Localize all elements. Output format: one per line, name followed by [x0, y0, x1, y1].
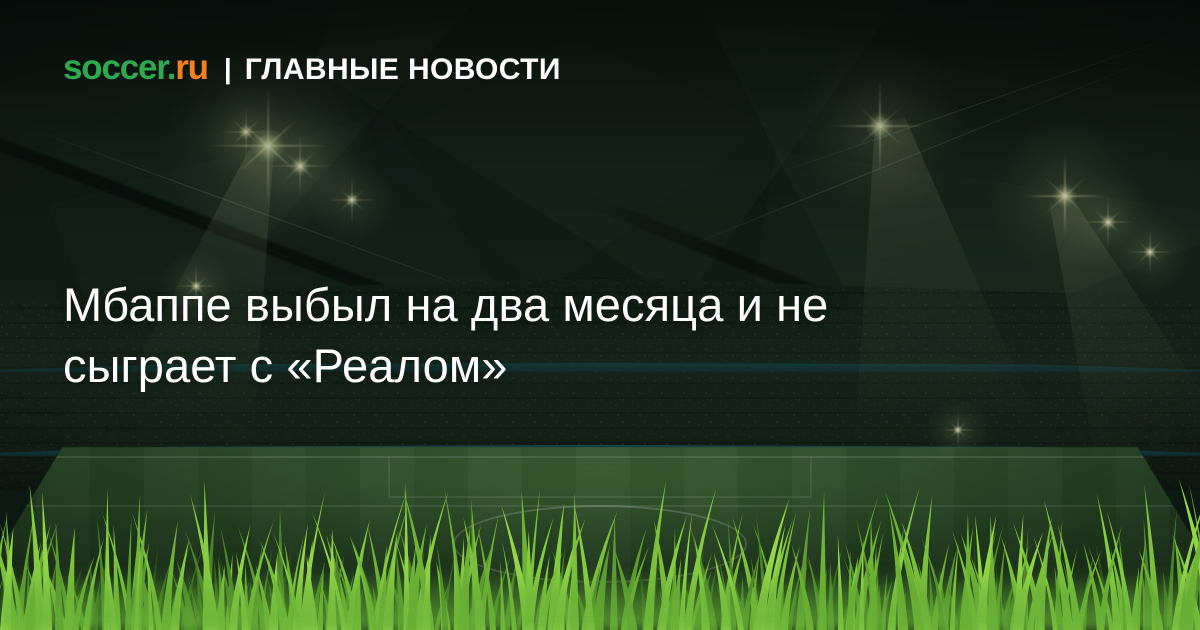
logo-text-soccer: soccer	[63, 48, 167, 87]
logo-text-dot: .	[167, 48, 176, 87]
page-title: Мбаппе выбыл на два месяца и не сыграет …	[63, 274, 1093, 396]
headline-line-2: сыграет с «Реалом»	[63, 335, 1093, 396]
site-logo[interactable]: soccer.ru	[63, 50, 208, 85]
card-content: soccer.ru | ГЛАВНЫЕ НОВОСТИ Мбаппе выбыл…	[0, 0, 1200, 630]
section-kicker: ГЛАВНЫЕ НОВОСТИ	[245, 55, 561, 85]
headline-line-1: Мбаппе выбыл на два месяца и не	[63, 274, 1093, 335]
logo-text-tld: ru	[175, 48, 208, 87]
brand-bar[interactable]: soccer.ru | ГЛАВНЫЕ НОВОСТИ	[63, 50, 561, 85]
brand-separator: |	[224, 55, 232, 83]
social-share-card: soccer.ru | ГЛАВНЫЕ НОВОСТИ Мбаппе выбыл…	[0, 0, 1200, 630]
